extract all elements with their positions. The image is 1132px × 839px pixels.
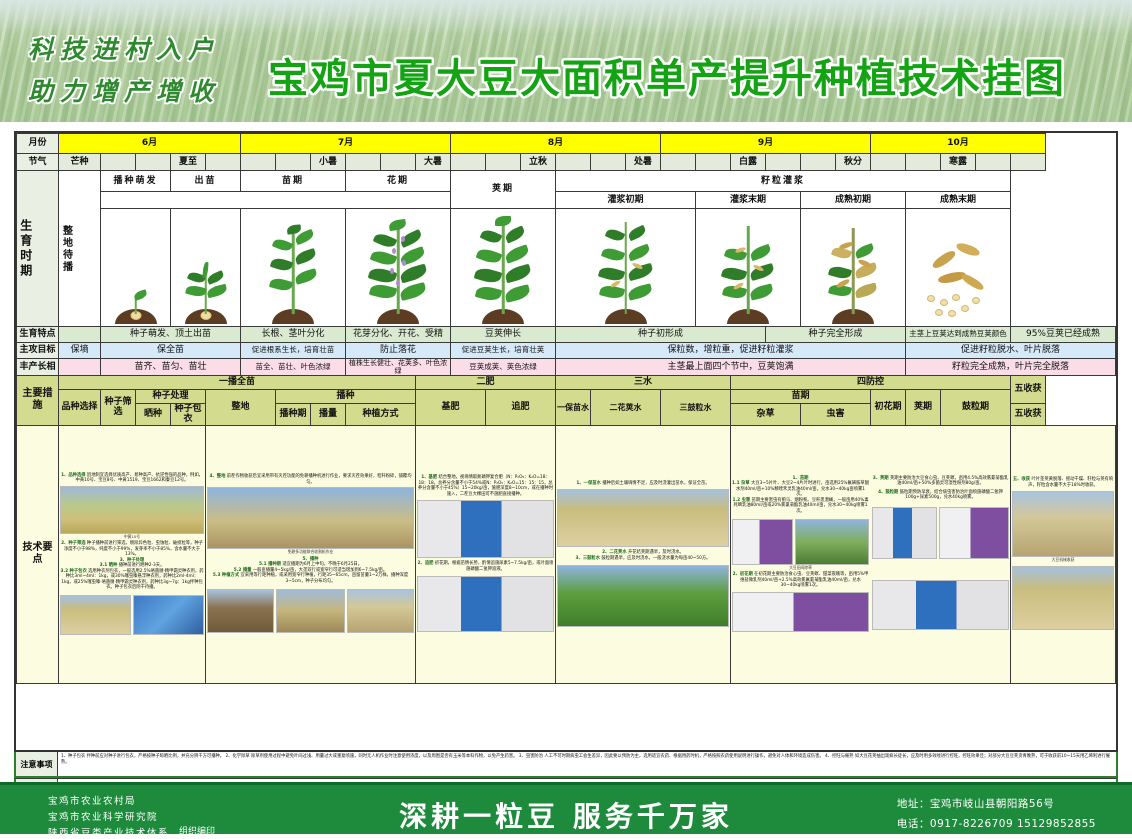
main-table-frame: 月份 6月 7月 8月 9月 10月 节气 芒种 夏至 小暑 大暑 <box>14 131 1118 752</box>
solar-term-blank-17 <box>906 154 941 171</box>
tech-photo-caption-weeding: 大豆田间除草 <box>732 566 869 570</box>
plant-full-maturity-icon <box>907 209 1009 326</box>
footer-org-2: 宝鸡市农业科学研究院 <box>48 809 169 823</box>
tech-photo-seeder <box>207 487 414 549</box>
main-goal-root-growth: 促进根系生长，培育壮苗 <box>241 343 346 359</box>
measure-group-harvest: 五收获 <box>1011 376 1046 404</box>
solar-term-blank-7 <box>381 154 416 171</box>
solar-term-blank-6 <box>346 154 381 171</box>
growth-stage-row-2: 灌浆初期 灌浆末期 成熟初期 成熟末期 <box>17 192 1116 209</box>
solar-term-bailu: 白露 <box>731 154 766 171</box>
good-appearance-dark-green: 苗全、苗壮、叶色浓绿 <box>241 359 346 376</box>
tech-col-fertilizer: 1、基肥 结合整地，视墒情取氮磷钾复合肥（N：P₂O₅：K₂O=18：18：18… <box>416 425 556 683</box>
tech-c1-b1: 因地制宜选择优质高产、易种高产、抗逆性强的品种，例如，中黄10号、宝豆8号、中黄… <box>76 473 203 484</box>
main-goal-pod-growth: 促进豆荚生长，培育壮荚 <box>451 343 556 359</box>
tech-c2-b5: 宜采用等行距种植，或采用宽窄行种植，行距35~65cm，亩留苗量1~2万株，播种… <box>241 573 409 584</box>
tech-c1-h2: 2、种子筛选 <box>61 541 85 546</box>
month-cell-oct: 10月 <box>871 134 1046 154</box>
measure-water-seedling: 一保苗水 <box>556 390 591 426</box>
main-goal-baoquanmiao: 保全苗 <box>101 343 241 359</box>
tech-photo-field-2 <box>60 595 131 635</box>
good-appearance-blank <box>59 359 101 376</box>
tech-c1-h3: 3、种子处理 <box>120 558 144 563</box>
growth-feature-pod: 豆荚伸长 <box>451 327 556 343</box>
plant-emergence-icon <box>172 209 239 326</box>
measure-water-grain: 三鼓粒水 <box>661 390 731 426</box>
tech-c1-h5: 3.2 种子包衣 <box>60 569 86 574</box>
growth-feature-row: 生育特点 种子萌发、顶土出苗 长根、茎叶分化 花芽分化、开花、受精 豆荚伸长 种… <box>17 327 1116 343</box>
good-appearance-row: 丰产长相 苗齐、苗匀、苗壮 苗全、苗壮、叶色浓绿 植株生长健壮、花荚多、叶色浓绿… <box>17 359 1116 376</box>
tech-photo-combine <box>347 589 414 633</box>
footer-org-suffix: 组织编印 <box>179 824 215 837</box>
plant-flowering-icon <box>347 209 449 326</box>
tech-c4-h2: 2、二花荚水 <box>602 550 626 555</box>
tech-text-col5-d: 2、初花期 在初花期主要防治食心虫、豆荚螟、甜菜夜蛾等，亩用5%甲维盐微乳剂40… <box>732 572 869 589</box>
growth-feature-pod-color: 主茎上豆荚达到成熟豆荚颜色 <box>906 327 1011 343</box>
stage-cell-jiaqi: 荚期 <box>451 171 556 209</box>
solar-term-blank-8 <box>451 154 486 171</box>
solar-term-hanlu: 寒露 <box>941 154 976 171</box>
plant-podding-icon <box>452 209 554 326</box>
tech-c2-b1: 前茬作物收获后宜采用带有灭茬功能的免耕播种机进行作业，要求灭茬效果好，秸秆粉碎，… <box>227 474 412 485</box>
growth-feature-flower: 花芽分化、开花、受精 <box>346 327 451 343</box>
plant-stage-chengshuchuqi <box>801 209 906 327</box>
plant-stage-bozhong <box>101 209 171 327</box>
tech-c5-b3: 苗期主要害虫有蓟马、烟粉虱、豆秆黑潜蝇，一般亩用40%毒死蜱乳油80ml/亩或2… <box>734 498 869 514</box>
solar-term-blank-13 <box>696 154 731 171</box>
measure-pod-stage: 荚期 <box>906 390 941 426</box>
measure-weeds: 杂草 <box>731 404 801 426</box>
growth-feature-blank <box>59 327 101 343</box>
growth-feature-95-mature: 95%豆荚已经成熟 <box>1011 327 1116 343</box>
good-appearance-strong-plant: 植株生长健壮、花荚多、叶色浓绿 <box>346 359 451 376</box>
measure-sowing-date: 播种期 <box>276 404 311 426</box>
tech-c5-h6: 4、鼓粒期 <box>878 490 898 495</box>
tech-text-col6-a: 五、收获 叶片茎荚黄脱落、摇动干燥、籽粒与荚有响声，籽粒含水量不大于18%时收获… <box>1012 477 1114 488</box>
month-cell-aug: 8月 <box>451 134 661 154</box>
solar-term-blank-12 <box>661 154 696 171</box>
measure-variety-selection: 品种选择 <box>59 390 101 426</box>
footer-org-3: 陕西省豆类产业技术体系 <box>48 825 169 839</box>
plant-stage-chengshumoqi <box>906 209 1011 327</box>
month-row: 月份 6月 7月 8月 9月 10月 <box>17 134 1116 154</box>
tech-text-col1: 1、品种选择 因地制宜选择优质高产、易种高产、抗逆性强的品种，例如，中黄10号、… <box>60 473 204 484</box>
schedule-table: 月份 6月 7月 8月 9月 10月 节气 芒种 夏至 小暑 大暑 <box>16 133 1116 684</box>
row-label-good-appearance: 丰产长相 <box>17 359 59 376</box>
measures-mid-row: 品种选择 种子筛选 种子处理 整地 播种 基肥 追肥 一保苗水 二花荚水 三鼓粒… <box>17 390 1116 404</box>
solar-term-liqiu: 立秋 <box>521 154 556 171</box>
plant-vegetative-icon <box>242 209 344 326</box>
tech-c6-b1: 叶片茎荚黄脱落、摇动干燥、籽粒与荚有响声，籽粒含水量不大于18%时收获。 <box>1028 477 1113 488</box>
solar-term-xiaoshu: 小暑 <box>311 154 346 171</box>
row-label-growth-feature: 生育特点 <box>17 327 59 343</box>
tech-col-irrigation: 1、一保苗水 播种后如土壤墒情不足，应及时浇灌出苗水，保证全苗。 2、二花荚水 … <box>556 425 731 683</box>
plant-late-filling-icon <box>697 209 799 326</box>
row-label-main-measures: 主要措施 <box>17 376 59 426</box>
solar-term-blank-4 <box>241 154 276 171</box>
tech-c4-h3: 3、三鼓粒水 <box>576 556 600 561</box>
stage-cell-huaqi: 花期 <box>346 171 451 192</box>
tech-text-col3-a: 1、基肥 结合整地，视墒情取氮磷钾复合肥（N：P₂O₅：K₂O=18：18：18… <box>417 475 554 497</box>
tech-c4-h1: 1、一保苗水 <box>576 481 600 486</box>
poster-root: 科技进村入户 助力增产增收 宝鸡市夏大豆大面积单产提升种植技术挂图 月份 6月 … <box>0 0 1132 834</box>
tech-photo-caption-harvest: 大豆机械收获 <box>1012 558 1114 562</box>
plant-stage-guanjiangmoqi <box>696 209 801 327</box>
stage-cell-bozhongmengfa: 播种萌发 <box>101 171 171 192</box>
tech-text-col2-e: 5.3 种植方式 宜采用等行距种植，或采用宽窄行种植，行距35~65cm，亩留苗… <box>207 573 414 584</box>
tech-c6-h1: 五、收获 <box>1013 477 1030 482</box>
solar-term-xiazhi: 夏至 <box>171 154 206 171</box>
measure-group-fertilizer: 二肥 <box>416 376 556 390</box>
row-label-month: 月份 <box>17 134 59 154</box>
measure-water-flower: 二花荚水 <box>591 390 661 426</box>
measure-sowing: 播种 <box>276 390 416 404</box>
footer-slogan: 深耕一粒豆 服务千万家 <box>399 795 733 835</box>
tech-photo-pesticide-bottle <box>939 507 1009 559</box>
measures-top-row: 主要措施 一播全苗 二肥 三水 四防控 五收获 <box>17 376 1116 390</box>
growth-stage-row-1: 生育时期 整地待播 播种萌发 出苗 苗期 花期 荚期 籽粒灌浆 <box>17 171 1116 192</box>
solar-term-blank-9 <box>486 154 521 171</box>
tech-photo-pesticide <box>732 592 869 632</box>
plant-seedling-sprout-icon <box>102 209 169 326</box>
solar-term-blank-2 <box>136 154 171 171</box>
plant-stage-miaoqi <box>241 209 346 327</box>
row-label-solar-term: 节气 <box>17 154 59 171</box>
solar-term-dashu: 大暑 <box>416 154 451 171</box>
footer-org-1: 宝鸡市农业农村局 <box>48 793 169 807</box>
tech-c4-b2: 开花结荚期遇旱，及时浇水。 <box>628 550 684 555</box>
tech-col-land-sowing: 4、整地 前茬作物收获后宜采用带有灭茬功能的免耕播种机进行作业，要求灭茬效果好，… <box>206 425 416 683</box>
tech-photo-pesticide-bag <box>872 507 937 559</box>
main-goal-dehydrate: 促进籽粒脱水、叶片脱落 <box>906 343 1116 359</box>
row-label-growth-period: 生育时期 <box>17 171 59 327</box>
stage-cell-guanjiangchuqi: 灌浆初期 <box>556 192 696 209</box>
tech-c5-h5: 3、荚期 <box>873 476 889 481</box>
plant-early-filling-icon <box>557 209 694 326</box>
tech-c5-h1: 1、苗期 <box>793 476 809 481</box>
row-label-main-measures-text: 主要措施 <box>18 388 57 412</box>
growth-feature-germination: 种子萌发、顶土出苗 <box>101 327 241 343</box>
tech-c5-b2: 大豆3~5片叶、大豆2~4片叶时进行，亩选用25%氟磺胺草醚水剂40ml/亩+1… <box>736 481 869 497</box>
tech-photo-kh2po4 <box>872 580 1009 630</box>
tech-c5-h3: 1.2 虫害 <box>732 498 750 503</box>
month-cell-sep: 9月 <box>661 134 871 154</box>
tech-photo-irrigation-field <box>557 489 729 547</box>
plant-stage-guanjiangchuqi <box>556 209 696 327</box>
page-title: 宝鸡市夏大豆大面积单产提升种植技术挂图 <box>268 46 1066 104</box>
tech-c2-b3: 适宜播期为6月上中旬，不晚于6月25日。 <box>282 562 362 567</box>
stage-cell-zhengdi-text: 整地待播 <box>60 225 72 273</box>
tech-col-pest-control: 1、苗期 1.1 杂草 大豆3~5片叶、大豆2~4片叶时进行，亩选用25%氟磺胺… <box>731 425 1011 683</box>
header-banner: 科技进村入户 助力增产增收 宝鸡市夏大豆大面积单产提升种植技术挂图 <box>0 0 1132 122</box>
tech-c4-b3: 鼓粒期遇旱，应及时浇水，一般浇水量为每亩40~50方。 <box>601 556 710 561</box>
stage-cell-chumiao: 出苗 <box>171 171 241 192</box>
tech-c1-h4: 3.1 晒种 <box>100 563 118 568</box>
solar-term-blank-5 <box>276 154 311 171</box>
measure-seedling-stage: 苗期 <box>731 390 871 404</box>
measure-topdressing: 追肥 <box>486 390 556 426</box>
tech-photo-variety <box>60 486 204 534</box>
solar-term-row: 节气 芒种 夏至 小暑 大暑 立秋 处暑 白露 <box>17 154 1116 171</box>
measure-seed-treatment: 种子处理 <box>136 390 206 404</box>
row-label-tech-points-text: 技术要点 <box>18 542 57 567</box>
slogan-line-2: 助力增产增收 <box>28 72 220 108</box>
tech-c2-h2: 5、播种 <box>303 557 319 562</box>
good-appearance-top-nodes: 主茎最上面四个节中，豆荚饱满 <box>556 359 906 376</box>
banner-slogan: 科技进村入户 助力增产增收 <box>28 30 220 108</box>
main-goal-row: 主攻目标 保墒 保全苗 促进根系生长，培育壮苗 防止落花 促进豆荚生长，培育壮荚… <box>17 343 1116 359</box>
solar-term-chushu: 处暑 <box>626 154 661 171</box>
tech-c3-b2: 初花期，根据苗情长势，酌情追施尿素5~7.5kg/亩，或叶面喷施磷酸二氢钾溶液。 <box>435 561 554 572</box>
stage-cell-zililiangjiang: 籽粒灌浆 <box>556 171 1011 192</box>
stage-cell-miaoqi: 苗期 <box>241 171 346 192</box>
tech-text-col5-b: 1.1 杂草 大豆3~5片叶、大豆2~4片叶时进行，亩选用25%氟磺胺草醚水剂4… <box>732 481 869 498</box>
measure-group-water: 三水 <box>556 376 731 390</box>
stage-cell-chengshuchuqi: 成熟初期 <box>801 192 906 209</box>
measure-seed-screening: 种子筛选 <box>101 390 136 426</box>
measure-land-prep: 整地 <box>206 390 276 426</box>
growth-feature-seed-full: 种子完全形成 <box>766 327 906 343</box>
footer-address: 地址：宝鸡市岐山县朝阳路56号 <box>897 796 1096 811</box>
tech-text-col3-b: 2、追肥 初花期，根据苗情长势，酌情追施尿素5~7.5kg/亩，或叶面喷施磷酸二… <box>417 561 554 572</box>
tech-text-col5-c: 1.2 虫害 苗期主要害虫有蓟马、烟粉虱、豆秆黑潜蝇，一般亩用40%毒死蜱乳油8… <box>732 498 869 515</box>
plant-illustration-row <box>17 209 1116 327</box>
tech-photo-caption-seeder: 免耕多功能联合收割机作业 <box>207 550 414 554</box>
growth-feature-seed-init: 种子初形成 <box>556 327 766 343</box>
tech-c5-b5: 荚期主要防治大豆食心虫、豆荚螟，亩用4.5%高效氯氰菊酯乳油40ml/亩+50%… <box>890 476 1008 487</box>
stage-row2-spacer <box>101 192 451 209</box>
tech-c3-h2: 2、追肥 <box>418 561 434 566</box>
measure-group-protection: 四防控 <box>731 376 1011 390</box>
stage-cell-guanjiangmoqi: 灌浆末期 <box>696 192 801 209</box>
slogan-line-1: 科技进村入户 <box>28 30 220 66</box>
tech-photo-fertilizer-bags <box>417 500 554 558</box>
measure-seed-coating: 种子包衣 <box>171 404 206 426</box>
measure-planting-method: 种植方式 <box>346 404 416 426</box>
solar-term-blank-16 <box>871 154 906 171</box>
tech-photo-soybean-field <box>557 565 729 627</box>
stage-cell-chengshumoqi: 成熟末期 <box>906 192 1011 209</box>
tech-text-col1-b: 2、种子筛选 种子播种前进行筛选，剔除异色粒、虫蚀粒、破损粒等，种子净度不小于9… <box>60 541 204 558</box>
good-appearance-full-mature: 籽粒完全成熟，叶片完全脱落 <box>906 359 1116 376</box>
tech-photo-fertilizer-bags-2 <box>417 576 554 632</box>
tech-c5-b6: 鼓粒期预防早衰，结合病虫害防治叶面喷施磷酸二氢钾100g+尿素500g，兑水40… <box>900 490 1003 501</box>
tech-c5-b4: 在初花期主要防治食心虫、豆荚螟、甜菜夜蛾等，亩用5%甲维盐微乳剂40ml/亩+2… <box>740 572 868 588</box>
measure-sun-seed: 晒种 <box>136 404 171 426</box>
good-appearance-uniform: 苗齐、苗匀、苗壮 <box>101 359 241 376</box>
good-appearance-pod-green: 豆荚成荚、荚色浓绿 <box>451 359 556 376</box>
solar-term-blank-15 <box>801 154 836 171</box>
main-goal-grain-fill: 保粒数，增粒重，促进籽粒灌浆 <box>556 343 906 359</box>
footer-org-lines: 宝鸡市农业农村局 宝鸡市农业科学研究院 陕西省豆类产业技术体系 <box>48 793 169 839</box>
tech-photo-spraying <box>795 519 869 565</box>
footer-organizations: 宝鸡市农业农村局 宝鸡市农业科学研究院 陕西省豆类产业技术体系 组织编印 <box>48 793 215 839</box>
measure-early-flower: 初花期 <box>871 390 906 426</box>
measure-group-sowing: 一播全苗 <box>59 376 416 390</box>
solar-term-blank-11 <box>591 154 626 171</box>
tech-col-variety-seed: 1、品种选择 因地制宜选择优质高产、易种高产、抗逆性强的品种，例如，中黄10号、… <box>59 425 206 683</box>
tech-points-row: 技术要点 1、品种选择 因地制宜选择优质高产、易种高产、抗逆性强的品种，例如，中… <box>17 425 1116 683</box>
measure-base-fertilizer: 基肥 <box>416 390 486 426</box>
tech-c3-h1: 1、基肥 <box>421 475 437 480</box>
row-label-tech-points: 技术要点 <box>17 425 59 683</box>
tech-c2-b4: 一般亩播量4~5kg/亩，大垄双行或宽窄行可适当增加到6~7.5kg/亩。 <box>253 568 387 573</box>
tech-text-col2-a: 4、整地 前茬作物收获后宜采用带有灭茬功能的免耕播种机进行作业，要求灭茬效果好，… <box>207 474 414 485</box>
plant-stage-huaqi <box>346 209 451 327</box>
row-label-growth-period-text: 生育时期 <box>18 219 32 279</box>
plant-stage-jiaqi <box>451 209 556 327</box>
tech-c1-b4: 播种前进行晒种2-3天。 <box>119 563 165 568</box>
solar-term-blank-3 <box>206 154 241 171</box>
measure-sowing-rate: 播量 <box>311 404 346 426</box>
tech-c2-h5: 5.3 种植方式 <box>213 573 239 578</box>
tech-col-harvest: 五、收获 叶片茎荚黄脱落、摇动干燥、籽粒与荚有响声，籽粒含水量不大于18%时收获… <box>1011 425 1116 683</box>
tech-c4-b1: 播种后如土壤墒情不足，应及时浇灌出苗水，保证全苗。 <box>602 481 709 486</box>
tech-text-col4-a: 1、一保苗水 播种后如土壤墒情不足，应及时浇灌出苗水，保证全苗。 <box>557 481 729 487</box>
tech-photo-coated-seed <box>133 595 204 635</box>
main-goal-baoshang: 保墒 <box>59 343 101 359</box>
plant-early-maturity-icon <box>802 209 904 326</box>
tech-c5-h2: 1.1 杂草 <box>732 481 750 486</box>
tech-photo-herbicide <box>732 519 793 565</box>
tech-text-col4-c: 3、三鼓粒水 鼓粒期遇旱，应及时浇水，一般浇水量为每亩40~50方。 <box>557 556 729 562</box>
measure-pests: 虫害 <box>801 404 871 426</box>
solar-term-blank-18 <box>976 154 1011 171</box>
month-cell-jul: 7月 <box>241 134 451 154</box>
measure-harvest-sub: 五收获 <box>1011 404 1046 426</box>
tech-text-col5-e: 3、荚期 荚期主要防治大豆食心虫、豆荚螟，亩用4.5%高效氯氰菊酯乳油40ml/… <box>872 476 1009 487</box>
tech-c2-h3: 5.1 播种期 <box>259 562 281 567</box>
tech-c2-h1: 4、整地 <box>209 474 225 479</box>
tech-c2-h4: 5.2 播量 <box>234 568 252 573</box>
footer-phone: 电话：0917-8226709 15129852855 <box>897 816 1096 831</box>
tech-photo-caption-variety: 中黄10号 <box>60 535 204 539</box>
tech-photo-harvester <box>1012 491 1114 557</box>
footer-contact: 地址：宝鸡市岐山县朝阳路56号 电话：0917-8226709 15129852… <box>897 796 1096 831</box>
solar-term-mangzhong: 芒种 <box>59 154 101 171</box>
tech-text-col1-e: 3.2 种子包衣 选用种衣剂包衣，一般选用2.5%咯菌腈·精甲霜灵种衣剂，药种比… <box>60 569 204 591</box>
solar-term-blank-14 <box>766 154 801 171</box>
tech-photo-harvest-field <box>1012 566 1114 630</box>
solar-term-qiufen: 秋分 <box>836 154 871 171</box>
tech-text-col5-f: 4、鼓粒期 鼓粒期预防早衰，结合病虫害防治叶面喷施磷酸二氢钾100g+尿素500… <box>872 490 1009 501</box>
tech-c5-h4: 2、初花期 <box>733 572 753 577</box>
row-label-main-goal: 主攻目标 <box>17 343 59 359</box>
growth-feature-root: 长根、茎叶分化 <box>241 327 346 343</box>
plant-stage-chumiao <box>171 209 241 327</box>
tech-photo-tractor <box>276 589 345 633</box>
month-cell-jun: 6月 <box>59 134 241 154</box>
footer-bar: 宝鸡市农业农村局 宝鸡市农业科学研究院 陕西省豆类产业技术体系 组织编印 深耕一… <box>0 782 1132 834</box>
solar-term-blank-19 <box>1011 154 1046 171</box>
tech-c3-b1: 结合整地，视墒情取氮磷钾复合肥（N：P₂O₅：K₂O=18：18：18，总养分含… <box>418 475 553 497</box>
tech-photo-tillage <box>207 589 274 633</box>
stage-cell-zhengdi: 整地待播 <box>59 171 101 327</box>
measure-grain-stage: 鼓粒期 <box>941 390 1011 426</box>
main-goal-prevent-drop: 防止落花 <box>346 343 451 359</box>
solar-term-blank-10 <box>556 154 591 171</box>
solar-term-blank-1 <box>101 154 136 171</box>
